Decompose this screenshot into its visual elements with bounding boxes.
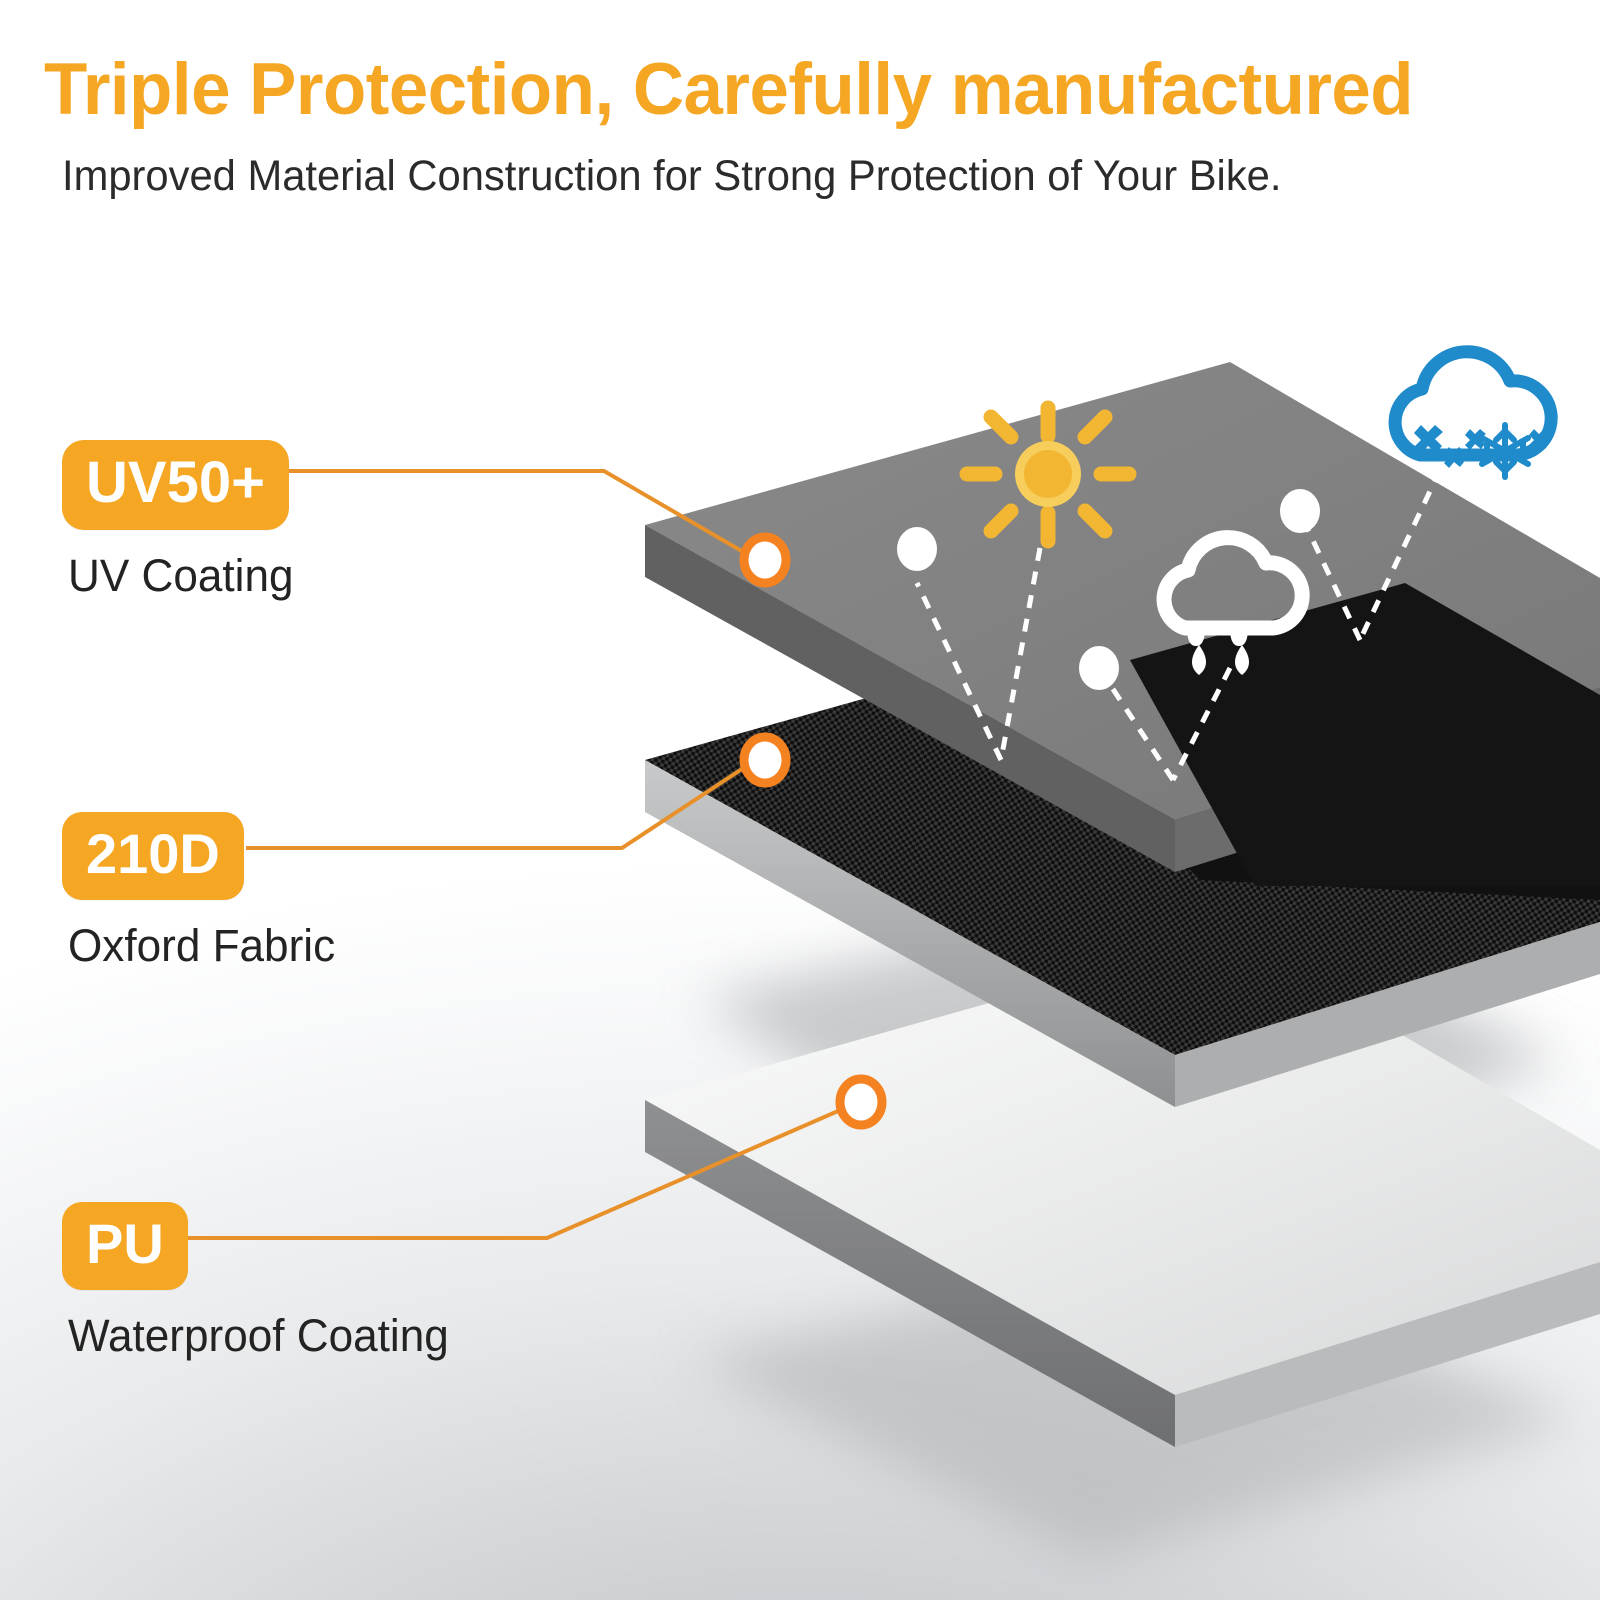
badge-uv50: UV50+ [62, 440, 289, 530]
badge-210d: 210D [62, 812, 244, 900]
marker-210d [744, 737, 786, 783]
badge-pu: PU [62, 1202, 188, 1290]
callout-uv[interactable]: UV50+ UV Coating [62, 440, 298, 602]
white-dot [1079, 646, 1119, 690]
white-dot [1280, 489, 1320, 533]
callout-label-uv: UV Coating [68, 550, 294, 602]
infographic-canvas: Triple Protection, Carefully manufacture… [0, 0, 1600, 1600]
white-dot [897, 527, 937, 571]
callout-label-oxford: Oxford Fabric [68, 920, 335, 972]
callout-pu[interactable]: PU Waterproof Coating [62, 1202, 457, 1362]
marker-uv [744, 537, 786, 583]
callout-label-pu: Waterproof Coating [68, 1310, 449, 1362]
marker-pu [840, 1079, 882, 1125]
callout-oxford[interactable]: 210D Oxford Fabric [62, 812, 341, 972]
